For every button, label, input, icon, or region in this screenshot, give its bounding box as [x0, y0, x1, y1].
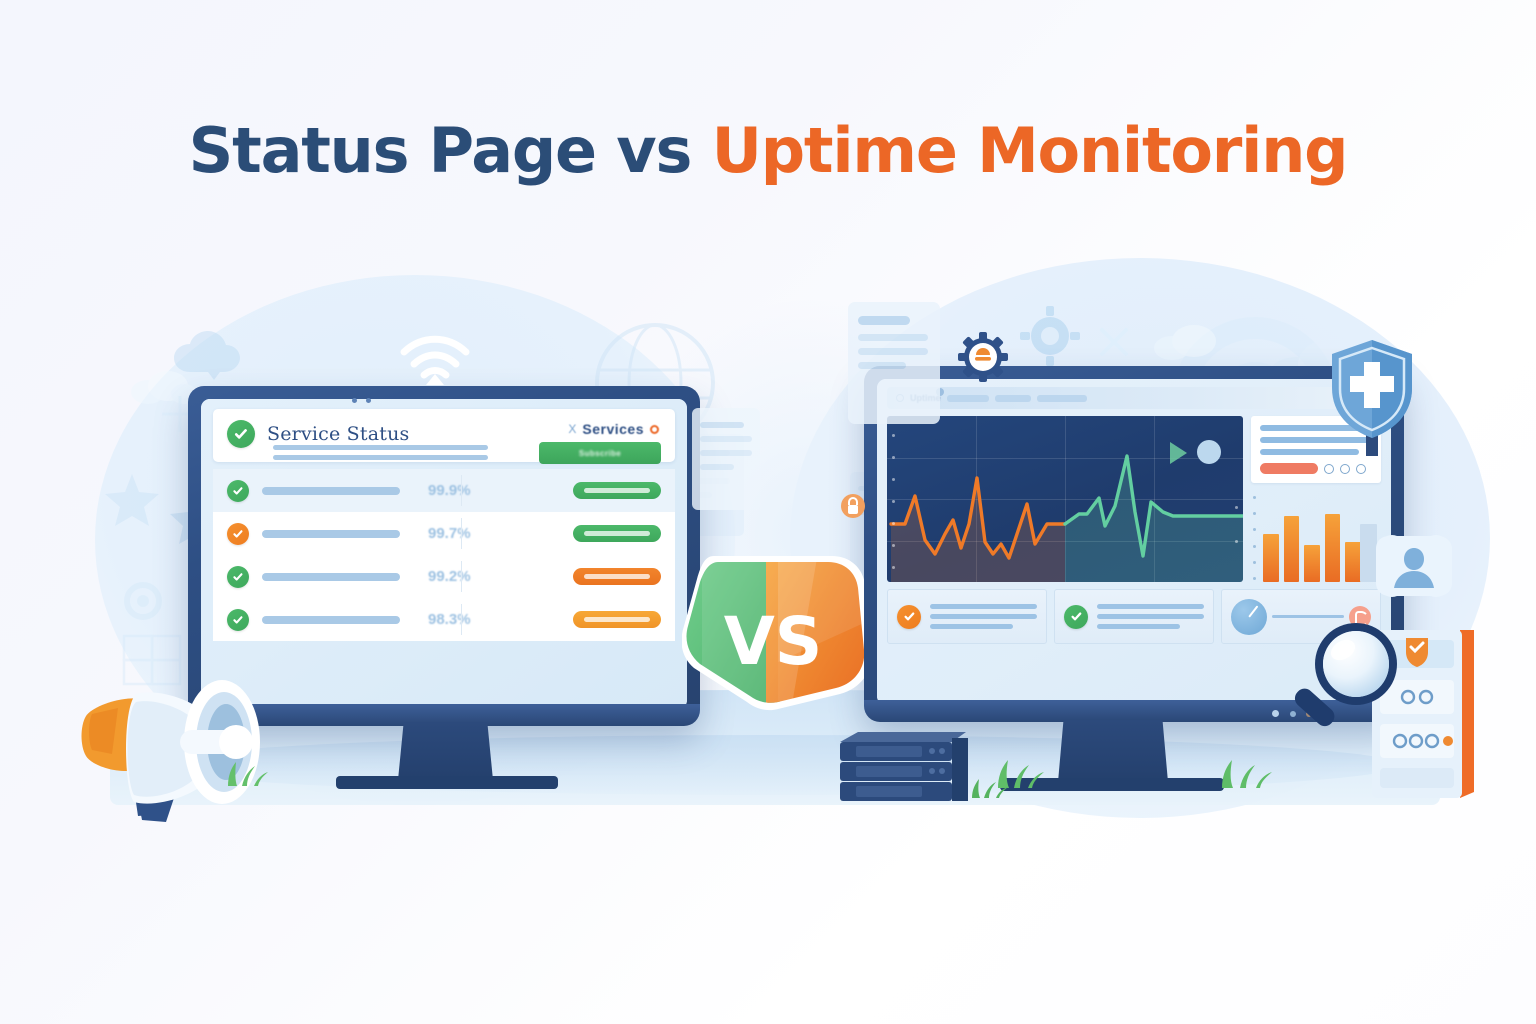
row-divider: [461, 604, 462, 635]
monitor-foot-left: [336, 776, 558, 789]
row-divider: [461, 518, 462, 549]
bar: [1263, 534, 1279, 582]
monitor-led-right: [1272, 710, 1279, 717]
table-row[interactable]: 99.2%: [213, 555, 675, 598]
topbar-placeholder: [947, 395, 989, 402]
table-row[interactable]: 99.9%: [213, 469, 675, 512]
row-name-placeholder: [262, 487, 400, 495]
row-name-placeholder: [262, 573, 400, 581]
status-badge: [573, 482, 661, 499]
row-uptime-value: 99.7%: [428, 525, 471, 542]
card-check-icon: [897, 605, 921, 629]
row-name-placeholder: [262, 530, 400, 538]
row-divider: [461, 475, 462, 506]
bar: [1304, 545, 1320, 582]
row-divider: [461, 561, 462, 592]
server-stack-icon: [836, 726, 974, 804]
indicator-ring-icon: [1340, 464, 1350, 474]
row-uptime-value: 99.2%: [428, 568, 471, 585]
table-row[interactable]: 99.7%: [213, 512, 675, 555]
dashboard-topbar: Uptime: [887, 387, 1381, 409]
dashboard-body: [887, 416, 1381, 582]
versus-badge-label: VS: [724, 603, 823, 680]
bar-chart-axis-ticks: [1253, 496, 1257, 580]
subscribe-button-label: Subscribe: [579, 449, 621, 458]
grass-icon: [222, 758, 268, 791]
alert-badge: [1260, 463, 1318, 474]
illustration-canvas: Status Page vs Uptime Monitoring Se: [0, 0, 1536, 1024]
brand-dot-icon: [650, 425, 659, 434]
indicator-ring-icon: [1356, 464, 1366, 474]
chart-series-svg: [887, 416, 1243, 582]
response-time-chart[interactable]: [887, 416, 1243, 582]
subscribe-button[interactable]: Subscribe: [539, 442, 661, 464]
versus-badge: VS: [682, 552, 864, 728]
megaphone-icon: [62, 622, 314, 822]
row-uptime-value: 99.9%: [428, 482, 471, 499]
topbar-placeholder: [1037, 395, 1087, 402]
bar: [1325, 514, 1341, 582]
header-placeholder-bars: [273, 445, 488, 460]
monitor-neck-right: [1058, 720, 1168, 782]
cloud-icon: [1150, 320, 1226, 362]
topbar-placeholder: [995, 395, 1031, 402]
star-icon: [100, 470, 164, 530]
status-check-icon: [227, 420, 255, 448]
placeholder-line: [273, 455, 488, 460]
page-title: Status Page vs Uptime Monitoring: [0, 118, 1536, 183]
plus-spark-icon: [1092, 322, 1136, 362]
monitor-card-warning[interactable]: [887, 589, 1047, 644]
service-status-list: 99.9% 99.7%: [213, 469, 675, 641]
document-card: [690, 406, 762, 512]
status-badge: [573, 568, 661, 585]
card-check-icon: [1064, 605, 1088, 629]
camera-led-left2: [366, 398, 371, 403]
row-check-icon: [227, 566, 249, 588]
shield-health-icon: [1326, 338, 1418, 456]
magnifier-icon: [1288, 616, 1408, 746]
bar: [1345, 542, 1361, 582]
lock-icon: [840, 490, 866, 522]
chart-marker-circle-icon: [1197, 440, 1221, 464]
grass-icon: [1216, 756, 1272, 793]
grass-icon: [968, 776, 1008, 803]
status-page-title: Service Status: [267, 423, 409, 445]
title-part-orange: Uptime Monitoring: [712, 114, 1348, 187]
user-avatar-icon: [1372, 528, 1456, 604]
camera-led-left: [352, 398, 357, 403]
play-triangle-icon: [1170, 442, 1187, 464]
status-page-header: Service Status X Services Subscribe: [213, 409, 675, 462]
row-check-icon: [227, 523, 249, 545]
wifi-icon: [396, 328, 474, 388]
monitor-card-ok[interactable]: [1054, 589, 1214, 644]
brand-name: Services: [582, 421, 644, 437]
row-check-icon: [227, 480, 249, 502]
indicator-ring-icon: [1324, 464, 1334, 474]
brand-x-mark: X: [568, 422, 576, 436]
gear-icon: [1020, 306, 1080, 366]
status-badge: [573, 525, 661, 542]
row-uptime-value: 98.3%: [428, 611, 471, 628]
placeholder-line: [273, 445, 488, 450]
bar: [1284, 516, 1300, 582]
title-part-dark: Status Page vs: [189, 114, 712, 187]
monitor-neck-left: [398, 722, 493, 780]
service-brand-logo: X Services: [568, 421, 659, 437]
incident-bar-chart[interactable]: [1251, 490, 1381, 582]
document-card: [846, 300, 942, 426]
gear-badge-icon: [958, 332, 1008, 382]
speed-gauge-icon: [1231, 599, 1267, 635]
status-badge: [573, 611, 661, 628]
